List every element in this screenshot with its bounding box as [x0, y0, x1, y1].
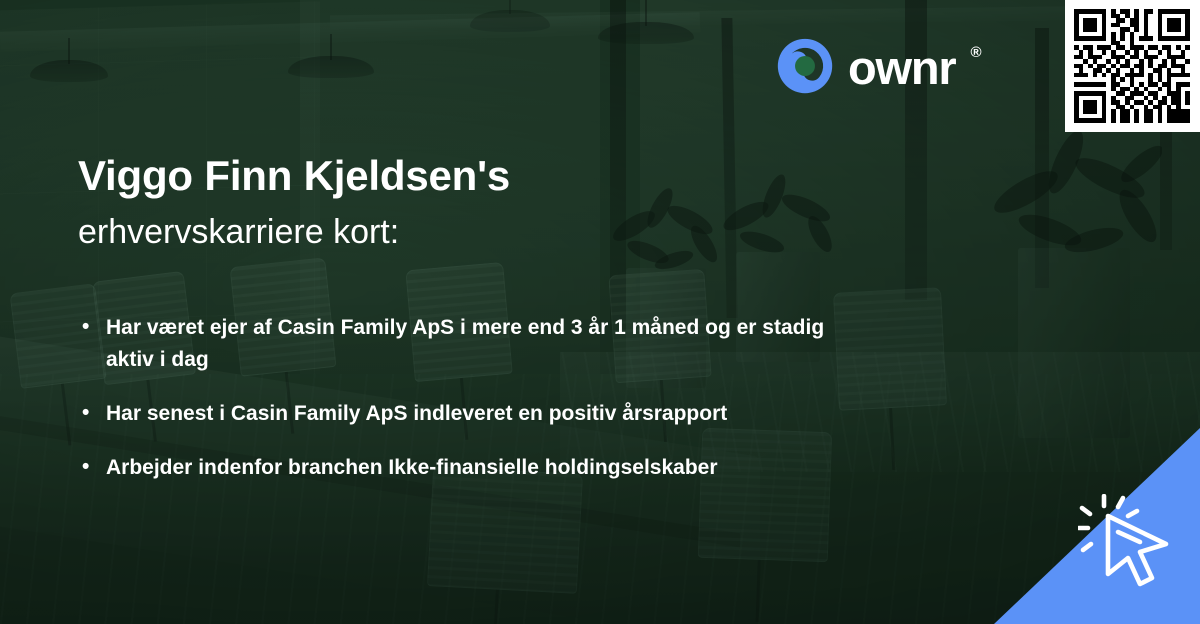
person-name: Viggo Finn Kjeldsen's — [78, 152, 838, 200]
career-fact-item: Har senest i Casin Family ApS indleveret… — [80, 398, 870, 430]
career-fact-item: Har været ejer af Casin Family ApS i mer… — [80, 312, 870, 376]
ownr-logo[interactable]: ownr ® — [776, 36, 981, 96]
registered-trademark-symbol: ® — [970, 44, 981, 61]
page-title: Viggo Finn Kjeldsen's erhvervskarriere k… — [78, 152, 838, 254]
career-facts-list: Har været ejer af Casin Family ApS i mer… — [80, 312, 980, 506]
click-cursor-icon — [1078, 494, 1182, 598]
ownr-wordmark: ownr — [848, 44, 955, 91]
qr-code[interactable] — [1065, 0, 1200, 132]
card-content: ownr ® Viggo Finn Kjeldsen's erhvervskar… — [0, 0, 1200, 624]
career-fact-item: Arbejder indenfor branchen Ikke-finansie… — [80, 452, 870, 484]
qr-code-grid — [1074, 9, 1190, 123]
career-card: ownr ® Viggo Finn Kjeldsen's erhvervskar… — [0, 0, 1200, 624]
page-subtitle: erhvervskarriere kort: — [78, 210, 838, 254]
ownr-circle-mark — [776, 37, 834, 95]
